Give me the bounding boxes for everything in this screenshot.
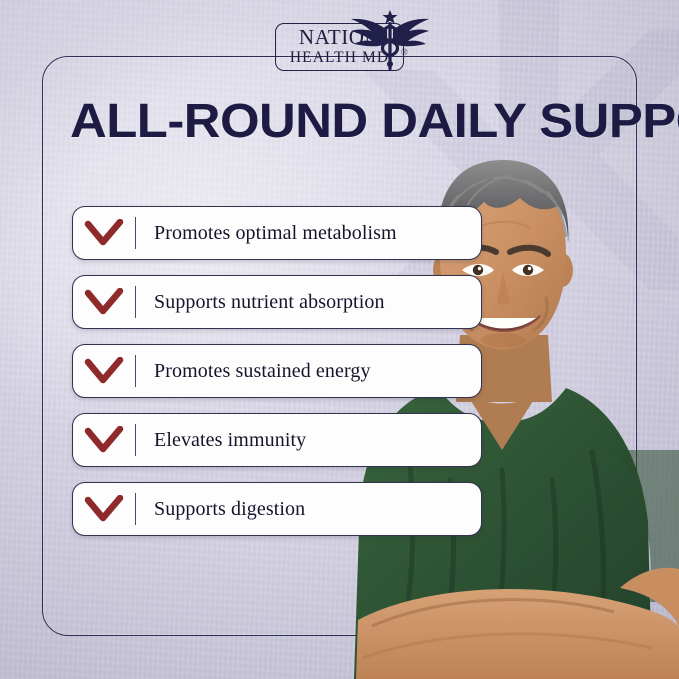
benefit-label: Supports digestion	[136, 498, 305, 521]
page-title: ALL-ROUND DAILY SUPPORT	[70, 98, 679, 146]
caduceus-winged-icon	[347, 10, 433, 72]
check-mark-icon	[73, 219, 135, 247]
list-item: Promotes optimal metabolism	[72, 206, 482, 260]
check-mark-icon	[73, 495, 135, 523]
promo-graphic: NATION HEALTH MD ®	[0, 0, 679, 679]
benefit-label: Promotes sustained energy	[136, 360, 371, 383]
check-mark-icon	[73, 357, 135, 385]
list-item: Supports nutrient absorption	[72, 275, 482, 329]
list-item: Supports digestion	[72, 482, 482, 536]
list-item: Promotes sustained energy	[72, 344, 482, 398]
check-mark-icon	[73, 288, 135, 316]
benefit-label: Supports nutrient absorption	[136, 291, 385, 314]
benefit-label: Elevates immunity	[136, 429, 306, 452]
check-mark-icon	[73, 426, 135, 454]
brand-logo: NATION HEALTH MD ®	[0, 16, 679, 78]
list-item: Elevates immunity	[72, 413, 482, 467]
benefits-list: Promotes optimal metabolism Supports nut…	[72, 206, 482, 536]
benefit-label: Promotes optimal metabolism	[136, 222, 397, 245]
